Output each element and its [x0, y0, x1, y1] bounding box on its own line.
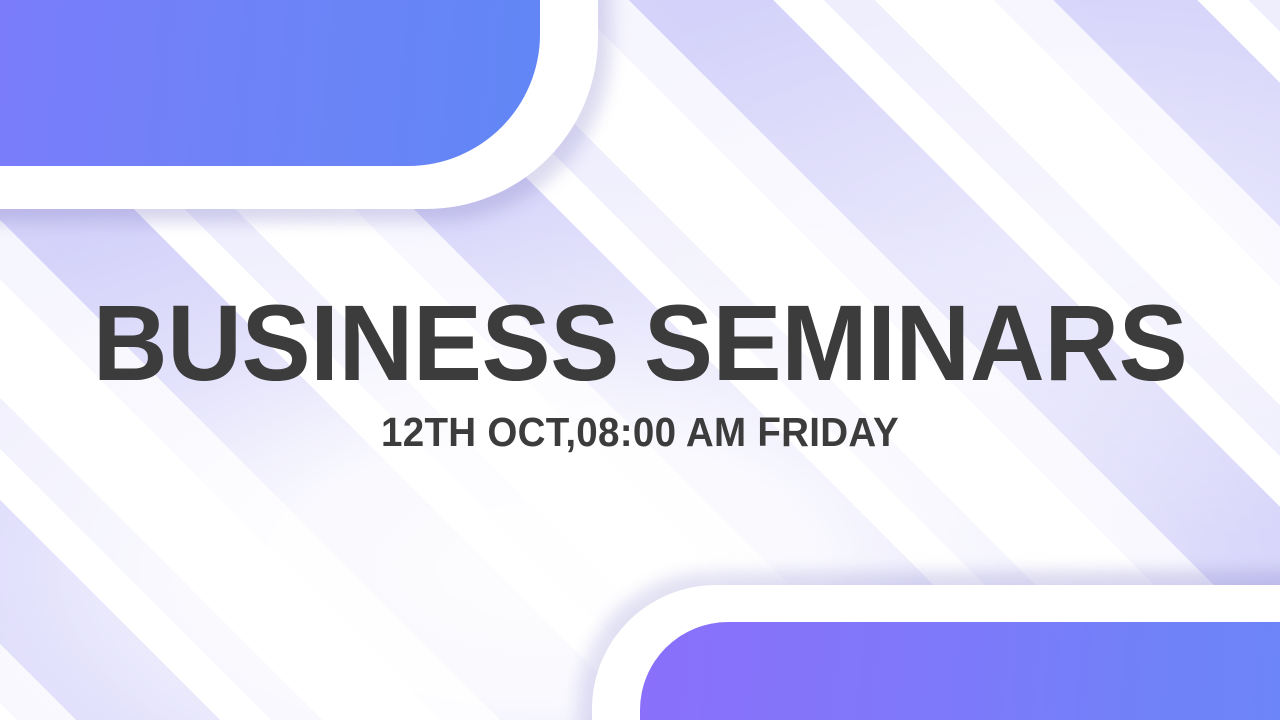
- title-word-seminars: SEMINARS: [644, 282, 1187, 403]
- event-poster: BUSINESSSEMINARS 12TH OCT,08:00 AM FRIDA…: [0, 0, 1280, 720]
- title-word-business: BUSINESS: [93, 282, 619, 403]
- bottom-right-gradient-shape: [640, 622, 1280, 720]
- poster-text-block: BUSINESSSEMINARS 12TH OCT,08:00 AM FRIDA…: [0, 288, 1280, 453]
- event-datetime-subtitle: 12TH OCT,08:00 AM FRIDAY: [38, 412, 1241, 453]
- page-title: BUSINESSSEMINARS: [26, 288, 1255, 398]
- top-left-gradient-shape: [0, 0, 540, 166]
